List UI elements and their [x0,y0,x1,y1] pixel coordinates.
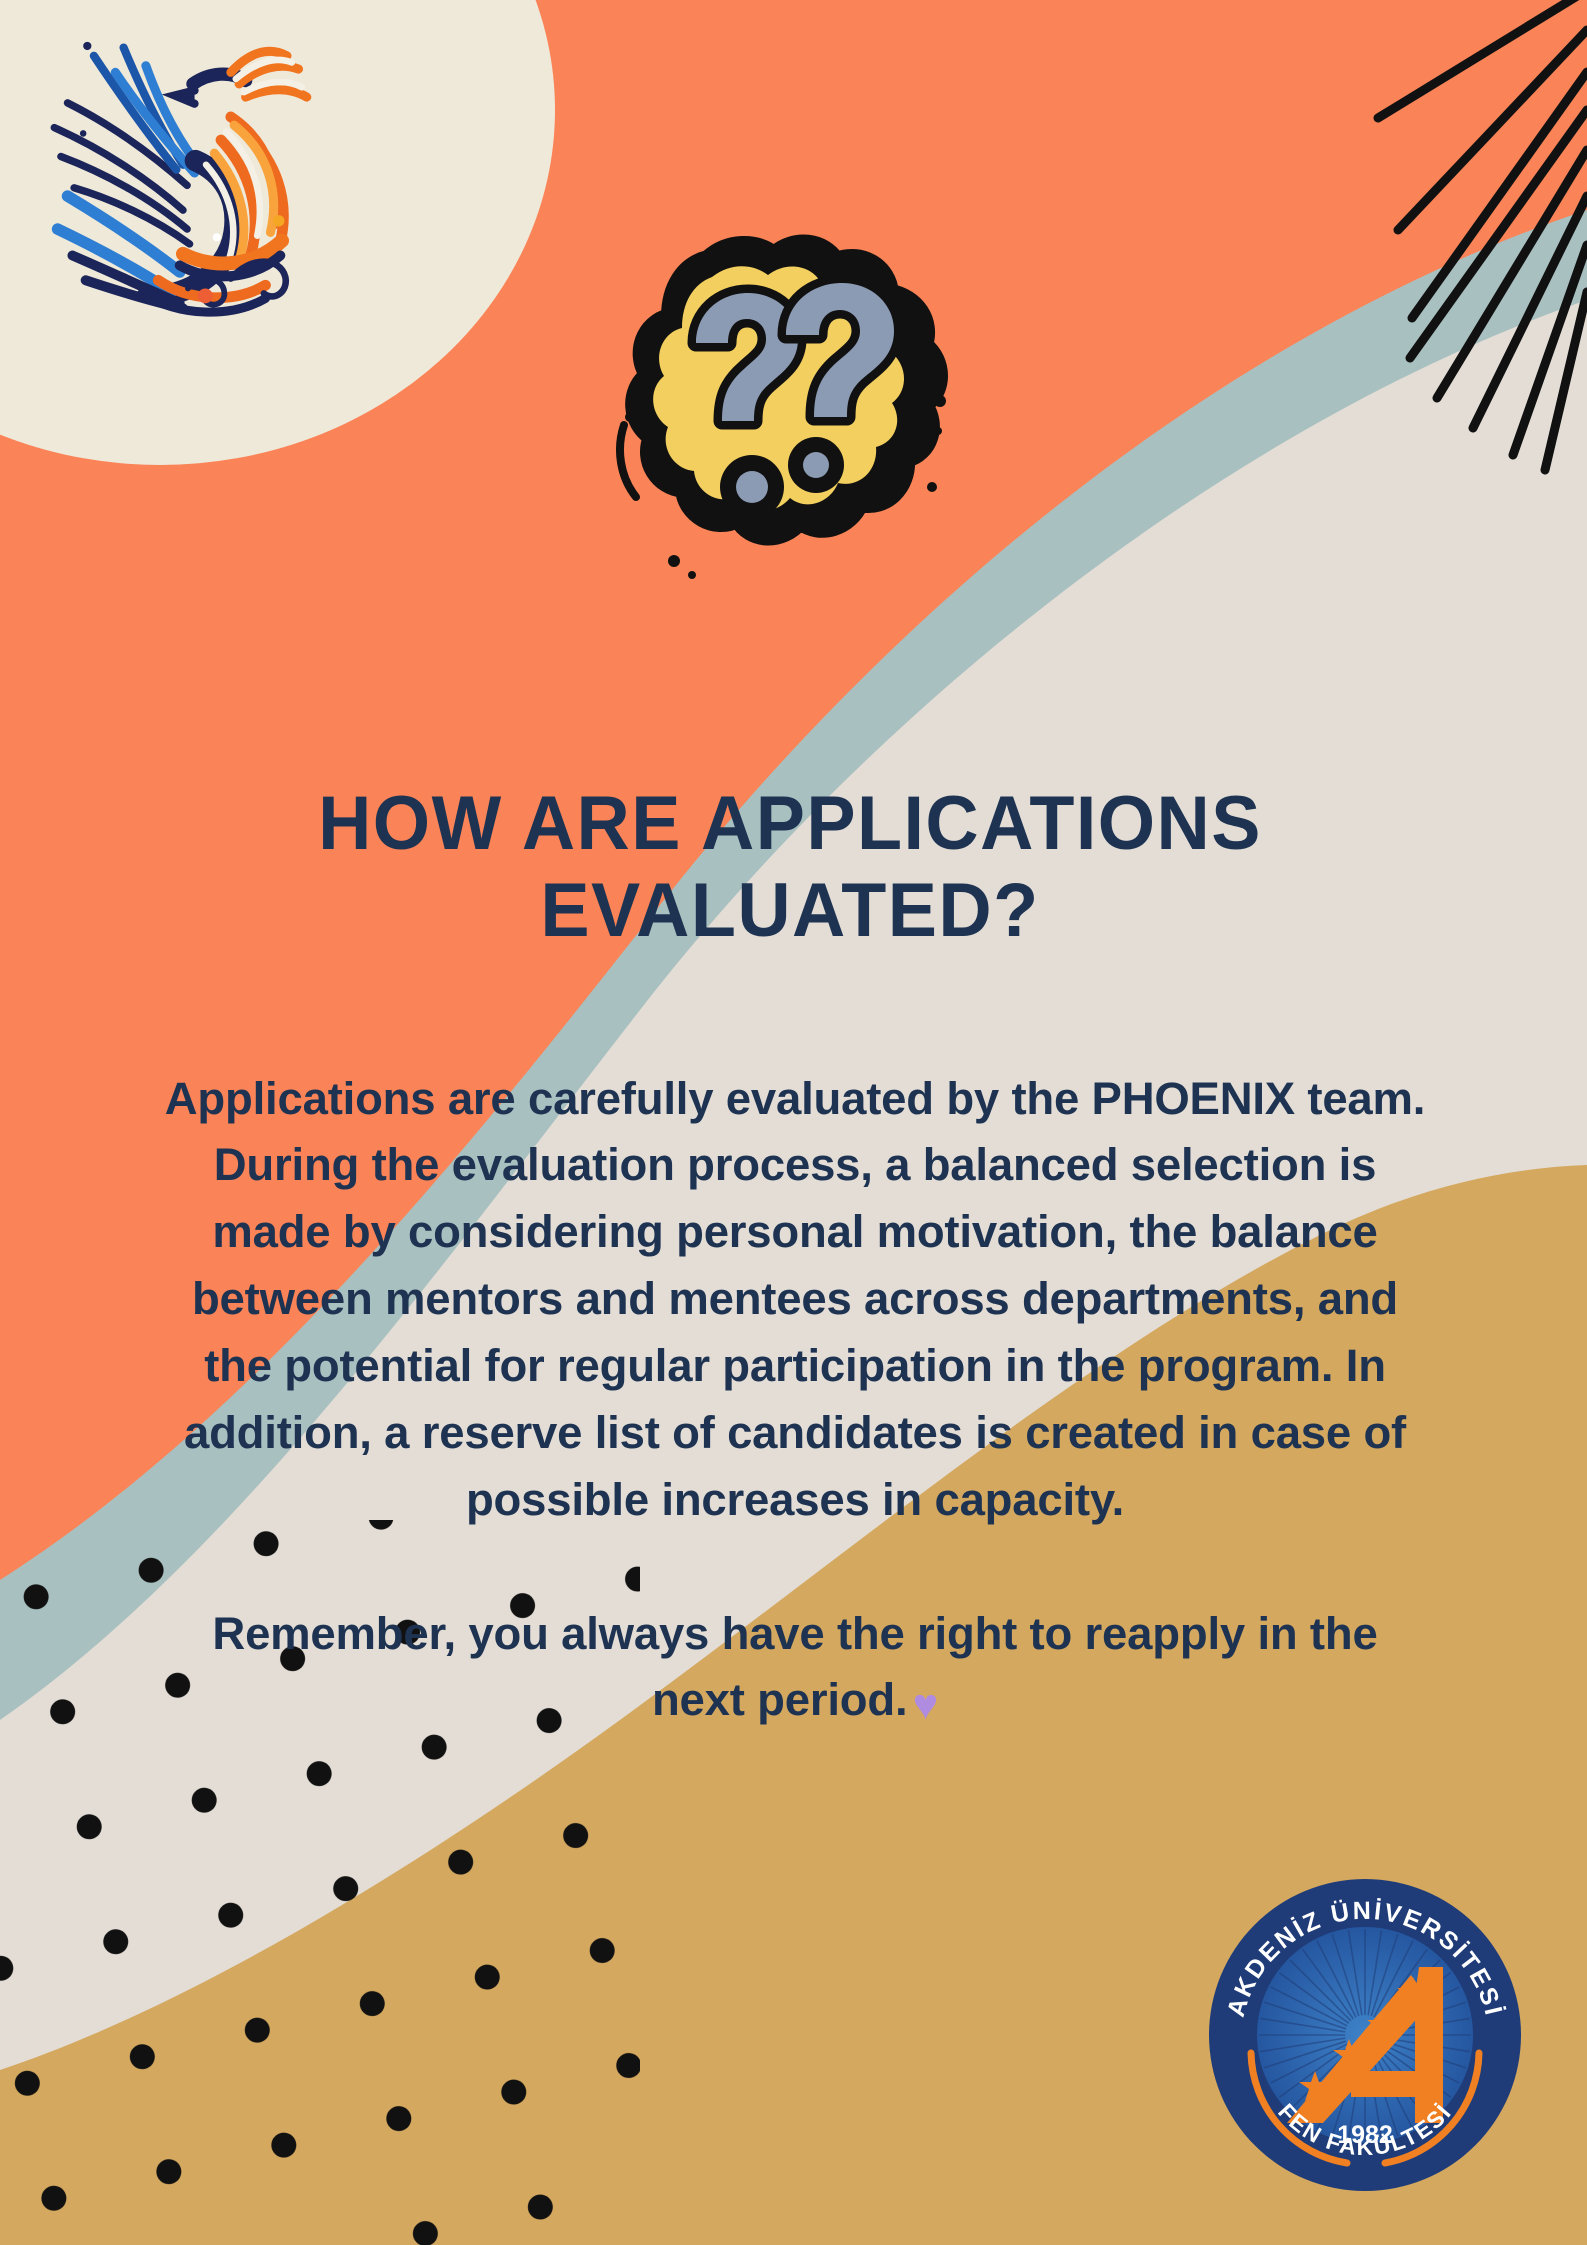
body-copy: Applications are carefully evaluated by … [160,1020,1430,1780]
page-title: HOW ARE APPLICATIONS EVALUATED? [169,781,1411,954]
reminder-text: Remember, you always have the right to r… [212,1608,1377,1726]
paragraph-reminder: Remember, you always have the right to r… [160,1601,1430,1735]
poster-canvas: AKDENİZ ÜNİVERSİTESİ FEN FAKÜLTESİ 1982 … [0,0,1587,2245]
paragraph-evaluation: Applications are carefully evaluated by … [160,1066,1430,1534]
university-seal-icon: AKDENİZ ÜNİVERSİTESİ FEN FAKÜLTESİ 1982 [1205,1875,1525,2195]
purple-heart-icon: ♥ [913,1684,938,1727]
seal-year: 1982 [1337,2121,1393,2149]
